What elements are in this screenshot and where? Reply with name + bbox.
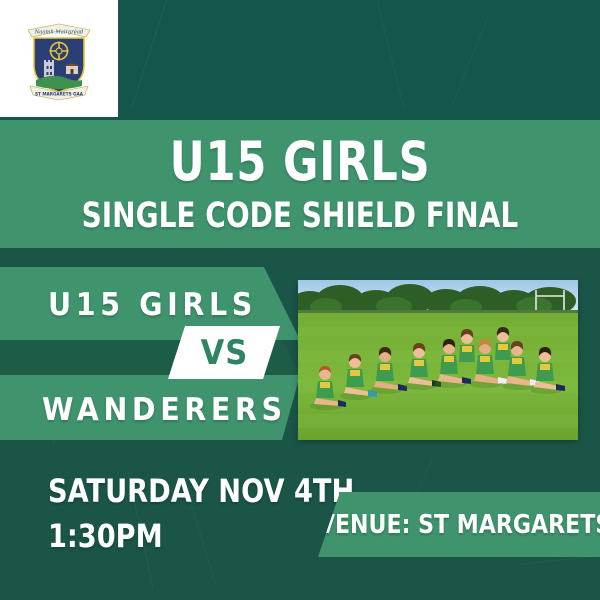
match-time: 1:30PM — [48, 517, 163, 555]
team-photo — [298, 280, 578, 440]
title-band: U15 GIRLS SINGLE CODE SHIELD FINAL — [0, 120, 600, 248]
away-team-label: WANDERERS — [42, 392, 287, 428]
versus-badge: VS — [168, 326, 280, 379]
svg-text:Naomh Mairgréad: Naomh Mairgréad — [34, 28, 84, 35]
match-announcement-poster: Naomh Mairgréad ST MARGARETS GAA U1 — [0, 0, 600, 600]
versus-label: VS — [200, 333, 248, 373]
club-logo-panel: Naomh Mairgréad ST MARGARETS GAA — [0, 0, 118, 117]
venue-band: VENUE: ST MARGARETS — [318, 492, 600, 557]
svg-text:ST MARGARETS GAA: ST MARGARETS GAA — [35, 91, 84, 96]
home-team-label: U15 GIRLS — [48, 287, 257, 323]
page-subtitle: SINGLE CODE SHIELD FINAL — [82, 199, 519, 234]
team-photo-image — [298, 280, 578, 440]
match-date: SATURDAY NOV 4TH — [48, 472, 354, 510]
page-title: U15 GIRLS — [170, 135, 431, 189]
venue-label: VENUE: ST MARGARETS — [306, 510, 600, 540]
club-crest-icon: Naomh Mairgréad ST MARGARETS GAA — [22, 16, 96, 102]
